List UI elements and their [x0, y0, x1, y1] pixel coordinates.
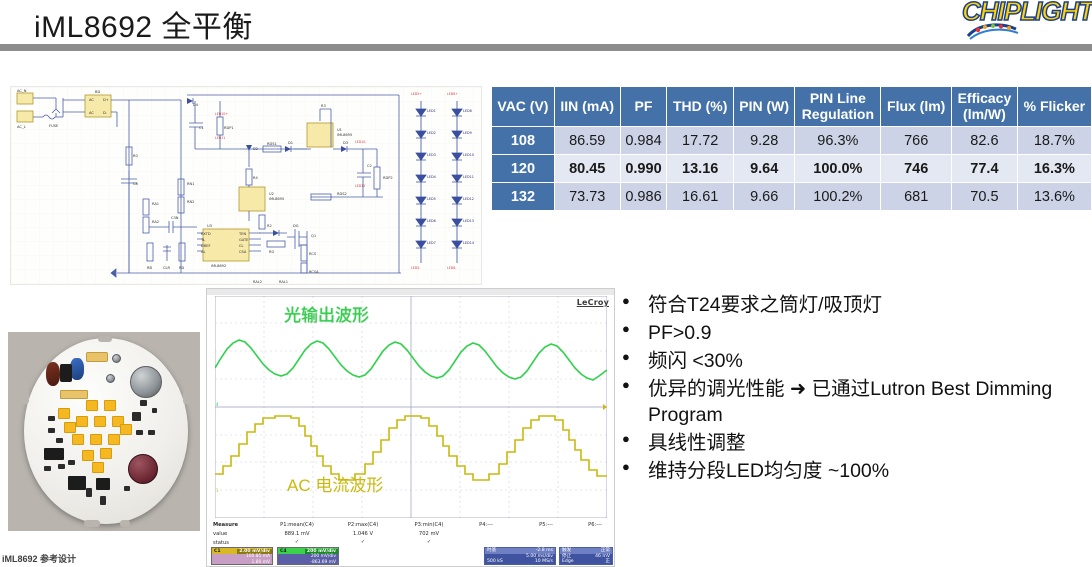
results-grid: VAC (V) IIN (mA) PF THD (%) PIN (W) PIN …: [491, 86, 1092, 211]
cell-flux: 766: [881, 127, 952, 155]
channel-c1-value-2: 1.80 mV: [212, 560, 272, 566]
table-header-row: VAC (V) IIN (mA) PF THD (%) PIN (W) PIN …: [492, 87, 1092, 127]
svg-text:AL: AL: [201, 250, 205, 254]
cell-efficacy: 77.4: [952, 155, 1018, 183]
cell-vac: 120: [492, 155, 555, 183]
svg-text:RDS1: RDS1: [267, 142, 277, 146]
channel-c1-box[interactable]: C1 2.00 mV/div 100.85 mA 1.80 mV: [211, 547, 273, 565]
svg-text:D-: D-: [103, 111, 108, 115]
svg-text:LED1: LED1: [427, 109, 436, 113]
svg-text:U1: U1: [337, 128, 342, 132]
measure-p6-name: P6:---: [575, 522, 615, 528]
svg-text:CSA: CSA: [239, 250, 247, 254]
smd-component: [124, 486, 130, 491]
mosfet: [96, 478, 110, 490]
channel-c1-tag: C1: [212, 549, 223, 554]
svg-text:AC_L: AC_L: [17, 125, 26, 129]
list-item: 符合T24要求之筒灯/吸顶灯: [618, 293, 1088, 319]
svg-text:EXTD: EXTD: [201, 232, 211, 236]
led-chip: [92, 462, 104, 473]
cell-thd: 16.61: [667, 183, 734, 211]
cell-vac: 108: [492, 127, 555, 155]
smd-component: [48, 428, 55, 433]
led-chip: [64, 422, 76, 433]
svg-text:R4: R4: [253, 176, 258, 180]
svg-text:LED10: LED10: [463, 153, 474, 157]
svg-text:CL: CL: [239, 244, 244, 248]
svg-text:RDS2: RDS2: [337, 192, 347, 196]
measure-p3-value: 702 mV: [399, 531, 459, 537]
inductor: [46, 362, 60, 386]
svg-text:LED11: LED11: [215, 136, 225, 140]
pcb-photo: [8, 332, 200, 531]
channel-c4-value-2: -863.69 mV: [278, 560, 338, 566]
timebase-rate: 500 kS: [487, 559, 503, 565]
smd-component: [68, 460, 75, 465]
scope-waveform-grid: 4 1: [215, 296, 607, 518]
electrolytic-capacitor: [128, 454, 158, 484]
svg-text:D+: D+: [103, 98, 109, 102]
col-efficacy: Efficacy (lm/W): [952, 87, 1018, 127]
svg-text:DG: DG: [293, 224, 299, 228]
bullet-list: 符合T24要求之筒灯/吸顶灯 PF>0.9 频闪 <30% 优异的调光性能 ➜ …: [618, 293, 1088, 484]
smd-component: [56, 438, 63, 443]
svg-text:LED10-: LED10-: [355, 140, 366, 144]
col-thd: THD (%): [667, 87, 734, 127]
measure-header: Measure: [213, 522, 238, 528]
title-divider: [0, 44, 1092, 51]
svg-text:C2: C2: [367, 164, 372, 168]
measure-p5-name: P5:---: [521, 522, 571, 528]
led-chip: [86, 400, 98, 411]
led-chip: [104, 400, 116, 411]
col-flux-label: Flux (lm): [887, 98, 945, 114]
controller-ic: [44, 448, 64, 460]
page-title: iML8692 全平衡: [34, 2, 253, 46]
smd-component: [44, 466, 51, 471]
cell-flicker: 18.7%: [1017, 127, 1091, 155]
col-pin: PIN (W): [733, 87, 794, 127]
smd-component: [132, 412, 141, 421]
measure-status-label: status: [213, 540, 229, 546]
ac-current-label: AC 电流波形: [287, 471, 383, 496]
smd-component: [58, 464, 65, 469]
led-chip: [90, 434, 102, 445]
list-item: 维持分段LED均匀度 ~100%: [618, 459, 1088, 485]
svg-text:U2: U2: [269, 192, 274, 196]
cell-reg: 100.0%: [795, 155, 881, 183]
led-chip: [100, 448, 112, 459]
cell-pf: 0.986: [620, 183, 667, 211]
svg-text:BD: BD: [95, 90, 100, 94]
col-vac: VAC (V): [492, 87, 555, 127]
svg-text:LED9: LED9: [463, 131, 472, 135]
list-item: 具线性调整: [618, 431, 1088, 457]
svg-text:FUSE: FUSE: [49, 124, 59, 128]
svg-text:AC: AC: [89, 98, 94, 102]
svg-text:LED14: LED14: [463, 241, 474, 245]
svg-text:D3: D3: [343, 141, 348, 145]
table-row: 132 73.73 0.986 16.61 9.66 100.2% 681 70…: [492, 183, 1092, 211]
led-chip: [58, 408, 70, 419]
led-chip: [120, 424, 132, 435]
smd-component: [148, 430, 155, 435]
svg-text:iML8695: iML8695: [337, 133, 352, 137]
svg-text:iML8692: iML8692: [211, 264, 226, 268]
cell-reg: 96.3%: [795, 127, 881, 155]
svg-text:RCS: RCS: [309, 252, 317, 256]
svg-text:LED8: LED8: [463, 109, 472, 113]
channel-c1-head: 2.00 mV/div: [237, 549, 272, 554]
svg-text:RN1: RN1: [187, 182, 194, 186]
diode: [106, 374, 115, 383]
svg-text:RA1: RA1: [152, 202, 159, 206]
smd-component: [140, 400, 147, 406]
svg-text:D4: D4: [193, 103, 199, 107]
svg-text:Q1: Q1: [311, 234, 316, 238]
measure-p4-name: P4:---: [461, 522, 511, 528]
trigger-slope: 正: [605, 559, 610, 565]
col-eff-label-1: Efficacy: [958, 90, 1012, 106]
svg-text:LED6-: LED6-: [447, 266, 456, 270]
col-iin-label: IIN (mA): [560, 98, 614, 114]
col-pin-label: PIN (W): [739, 98, 789, 114]
col-pf: PF: [620, 87, 667, 127]
list-item: 优异的调光性能 ➜ 已通过Lutron Best Dimming Program: [618, 377, 1088, 429]
svg-text:RA2: RA2: [152, 220, 159, 224]
chiplight-logo: CHIPLIGHT: [960, 0, 1092, 44]
led-chip: [76, 416, 88, 427]
schematic-drawing: AC_N AC_L FUSE BD AC D+ AC D- R0 C8 C1 D…: [11, 87, 482, 285]
measure-p2-status: ✓: [333, 539, 393, 545]
cell-pin: 9.66: [733, 183, 794, 211]
light-output-label: 光输出波形: [284, 301, 369, 326]
svg-text:LED6: LED6: [427, 219, 436, 223]
cell-pin: 9.28: [733, 127, 794, 155]
led-chip: [72, 434, 84, 445]
cell-reg: 100.2%: [795, 183, 881, 211]
svg-text:LED12: LED12: [463, 197, 474, 201]
cell-flicker: 13.6%: [1017, 183, 1091, 211]
measure-p1-name: P1:mean(C4): [267, 522, 327, 528]
cell-iin: 86.59: [554, 127, 620, 155]
resistor: [60, 390, 88, 399]
svg-text:iML8695: iML8695: [269, 197, 284, 201]
col-reg-label-1: PIN Line: [810, 90, 866, 106]
svg-text:CLR: CLR: [163, 266, 171, 270]
svg-text:RB: RB: [147, 266, 152, 270]
cell-thd: 13.16: [667, 155, 734, 183]
svg-text:LED11: LED11: [463, 175, 474, 179]
col-thd-label: THD (%): [673, 98, 727, 114]
smd-component: [136, 430, 143, 435]
svg-text:AC_N: AC_N: [17, 89, 27, 93]
svg-text:LED4: LED4: [427, 175, 436, 179]
svg-text:D1: D1: [288, 141, 293, 145]
cell-pf: 0.990: [620, 155, 667, 183]
measure-p3-status: ✓: [399, 539, 459, 545]
pcb-board: [24, 338, 188, 524]
oscilloscope-capture: 4 1 LeCroy 光输出波形 AC 电流波形 Measure value s…: [206, 288, 615, 567]
svg-text:RN2: RN2: [187, 200, 194, 204]
fuse: [86, 352, 108, 362]
timebase-title: 时基: [487, 548, 496, 554]
svg-text:RAL1: RAL1: [279, 280, 288, 284]
timebase-sample: 10 MS/s: [535, 559, 553, 565]
svg-text:C3N: C3N: [171, 216, 179, 220]
smd-component: [86, 488, 92, 497]
svg-text:D2: D2: [253, 147, 258, 151]
svg-text:R3: R3: [321, 104, 326, 108]
cell-thd: 17.72: [667, 127, 734, 155]
led-chip: [108, 434, 120, 445]
svg-text:LED5+: LED5+: [411, 92, 422, 96]
bridge-rectifier: [60, 364, 72, 382]
svg-text:TL: TL: [200, 238, 205, 242]
measure-p2-name: P2:max(C4): [333, 522, 393, 528]
cell-flicker: 16.3%: [1017, 155, 1091, 183]
measure-p1-value: 889.1 mV: [267, 531, 327, 537]
cell-efficacy: 70.5: [952, 183, 1018, 211]
cell-efficacy: 82.6: [952, 127, 1018, 155]
col-pf-label: PF: [635, 98, 653, 114]
led-chip: [94, 416, 106, 427]
cell-pin: 9.64: [733, 155, 794, 183]
cell-iin: 73.73: [554, 183, 620, 211]
svg-text:C8: C8: [133, 182, 139, 186]
list-item: PF>0.9: [618, 321, 1088, 347]
col-flux: Flux (lm): [881, 87, 952, 127]
logo-swoosh-icon: [966, 20, 1026, 42]
smd-component: [152, 408, 157, 413]
footer-note: iML8692 参考设计: [2, 552, 202, 563]
svg-text:RDP2: RDP2: [383, 176, 393, 180]
col-reg-label-2: Regulation: [802, 106, 874, 122]
svg-text:LED12: LED12: [355, 184, 365, 188]
svg-text:LED7: LED7: [427, 241, 436, 245]
svg-text:LED5: LED5: [427, 197, 436, 201]
svg-text:LED13: LED13: [463, 219, 474, 223]
cell-flux: 746: [881, 155, 952, 183]
channel-c4-box[interactable]: C4 200 mV/div 200 mV/div -863.69 mV: [277, 547, 339, 565]
svg-text:RD: RD: [179, 266, 184, 270]
svg-text:LED5-: LED5-: [411, 266, 420, 270]
cell-pf: 0.984: [620, 127, 667, 155]
circuit-schematic: AC_N AC_L FUSE BD AC D+ AC D- R0 C8 C1 D…: [10, 86, 482, 285]
film-capacitor: [70, 358, 84, 380]
scope-measurement-panel: Measure value status P1:mean(C4) 889.1 m…: [209, 520, 614, 550]
trigger-box[interactable]: 触发 正常 停止 46 mV Edge 正: [559, 547, 613, 565]
trigger-coupling: Edge: [562, 559, 574, 565]
cell-vac: 132: [492, 183, 555, 211]
diode: [112, 354, 121, 363]
lecroy-brand-logo: LeCroy: [577, 298, 609, 307]
measure-p1-status: ✓: [267, 539, 327, 545]
feature-bullet-list: 符合T24要求之筒灯/吸顶灯 PF>0.9 频闪 <30% 优异的调光性能 ➜ …: [618, 293, 1088, 486]
led-chip: [82, 450, 94, 461]
col-vac-label: VAC (V): [497, 98, 548, 114]
measure-p3-name: P3:min(C4): [399, 522, 459, 528]
col-flicker: % Flicker: [1017, 87, 1091, 127]
measure-p2-value: 1.046 V: [333, 531, 393, 537]
svg-text:C1: C1: [199, 126, 204, 130]
svg-text:DREF: DREF: [201, 244, 211, 248]
svg-text:TEN: TEN: [238, 232, 246, 236]
col-iin: IIN (mA): [554, 87, 620, 127]
col-eff-label-2: (lm/W): [963, 106, 1006, 122]
electrolytic-capacitor: [130, 366, 162, 398]
list-item: 频闪 <30%: [618, 349, 1088, 375]
smd-component: [48, 416, 55, 421]
svg-text:RDP1: RDP1: [224, 126, 234, 130]
timebase-box[interactable]: 时基 -2.8 ms 5.00 ms/div 500 kS 10 MS/s: [484, 547, 556, 565]
svg-text:U3: U3: [207, 224, 212, 228]
col-pin-line-regulation: PIN Line Regulation: [795, 87, 881, 127]
measure-value-label: value: [213, 531, 227, 537]
cell-flux: 681: [881, 183, 952, 211]
svg-text:RCSA: RCSA: [309, 270, 319, 274]
svg-text:AC: AC: [89, 111, 94, 115]
svg-text:R2: R2: [267, 224, 272, 228]
svg-text:GATE: GATE: [239, 238, 249, 242]
cell-iin: 80.45: [554, 155, 620, 183]
channel-c4-tag: C4: [278, 549, 289, 554]
scope-toolbar: [207, 289, 615, 295]
channel-c4-head: 200 mV/div: [305, 549, 338, 554]
svg-text:RG: RG: [269, 250, 274, 254]
table-row: 120 80.45 0.990 13.16 9.64 100.0% 746 77…: [492, 155, 1092, 183]
scope-channel-bar: C1 2.00 mV/div 100.85 mA 1.80 mV C4 200 …: [209, 547, 614, 567]
performance-table: VAC (V) IIN (mA) PF THD (%) PIN (W) PIN …: [491, 86, 1092, 211]
col-flicker-label: % Flicker: [1024, 98, 1085, 114]
svg-text:LED10+: LED10+: [215, 112, 228, 116]
smd-component: [100, 496, 106, 505]
table-row: 108 86.59 0.984 17.72 9.28 96.3% 766 82.…: [492, 127, 1092, 155]
svg-text:LED6+: LED6+: [447, 92, 458, 96]
svg-text:LED2: LED2: [427, 131, 436, 135]
controller-ic: [68, 476, 86, 490]
svg-text:LED3: LED3: [427, 153, 436, 157]
svg-text:R0: R0: [133, 154, 138, 158]
svg-text:RAL2: RAL2: [253, 280, 262, 284]
